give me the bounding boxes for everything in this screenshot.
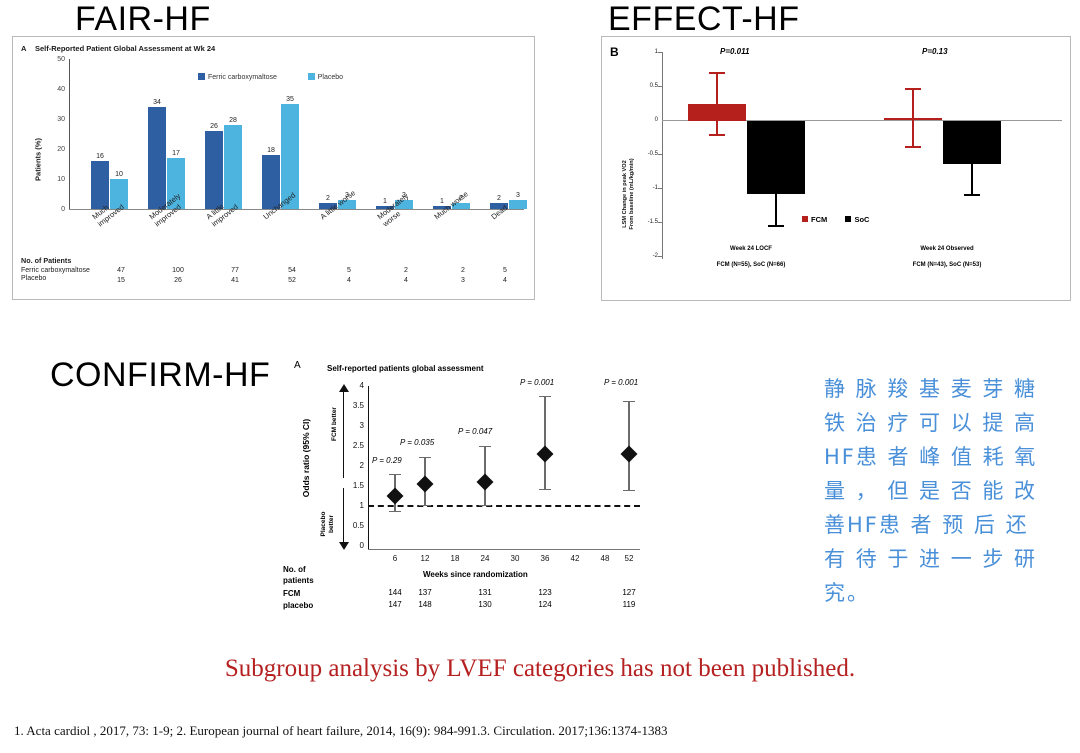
datapoint-week24 (477, 474, 494, 491)
chart-panel-effecthf: B LSM Change in peak VO2 From baseline (… (601, 36, 1071, 301)
page-title-confirmhf: CONFIRM-HF (50, 358, 270, 392)
confirmhf-pvalue-week12: P = 0.035 (400, 438, 434, 447)
chart-panel-confirmhf: A Self-reported patients global assessme… (288, 358, 650, 616)
errorbar-cap-top-week52 (623, 401, 635, 402)
bar-soc-observed (943, 121, 1001, 164)
conclusion-line-2: 铁 治 疗 可 以 提 高 (824, 406, 1072, 440)
confirmhf-ytick-15: 1.5 (344, 481, 364, 490)
fairhf-ytick-10: 10 (51, 176, 65, 183)
confirmhf-count-fcm-week52: 127 (614, 588, 644, 597)
conclusion-line-7: 究。 (824, 576, 1072, 610)
confirmhf-xtick-24: 24 (473, 554, 497, 563)
bar-soc-locf (747, 121, 805, 194)
count-placebo-4: 4 (334, 277, 364, 284)
confirmhf-y-axis-line (368, 386, 369, 549)
fairhf-x-axis-line (69, 209, 524, 210)
bar-value-placebo-unchanged: 35 (278, 96, 302, 103)
bar-value-fcm-much-improved: 16 (88, 153, 112, 160)
confirmhf-count-placebo-week52: 119 (614, 600, 644, 609)
errorbar-cap-top-week36 (539, 396, 551, 397)
effecthf-pvalue-locf: P=0.011 (720, 47, 749, 56)
confirmhf-ytick-3: 3 (348, 421, 364, 430)
count-placebo-1: 26 (163, 277, 193, 284)
legend-swatch-soc-effecthf (845, 216, 851, 222)
effecthf-pvalue-observed: P=0.13 (922, 47, 948, 56)
effecthf-group-label-observed: Week 24 Observed FCM (N=43), SoC (N=53) (882, 237, 1012, 269)
errorbar-cap-top-fcm-locf (709, 72, 725, 74)
count-fcm-6: 2 (448, 267, 478, 274)
fairhf-footer-row-placebo: Placebo (21, 275, 90, 282)
fairhf-footer-row-fcm: Ferric carboxymaltose (21, 267, 90, 274)
count-fcm-5: 2 (391, 267, 421, 274)
fairhf-panel-letter: A (21, 44, 26, 53)
effecthf-ytickmark-05 (658, 86, 662, 87)
fairhf-panel-title: Self-Reported Patient Global Assessment … (35, 44, 215, 53)
confirmhf-ytick-35: 3.5 (344, 401, 364, 410)
confirmhf-pvalue-week52: P = 0.001 (604, 378, 638, 387)
count-placebo-6: 3 (448, 277, 478, 284)
legend-label-fcm-effecthf: FCM (811, 215, 827, 224)
datapoint-week12 (417, 476, 434, 493)
confirmhf-arrow-down (343, 488, 344, 544)
effecthf-y-axis-title: LSM Change in peak VO2 From baseline (mL… (622, 149, 636, 239)
confirmhf-count-placebo-week24: 130 (470, 600, 500, 609)
effecthf-group-label-locf: Week 24 LOCF FCM (N=55), SoC (N=66) (686, 237, 816, 269)
count-fcm-0: 47 (106, 267, 136, 274)
errorbar-cap-bottom-week36 (539, 489, 551, 490)
errorbar-cap-bottom-fcm-locf (709, 134, 725, 136)
confirmhf-ytick-05: 0.5 (344, 521, 364, 530)
fairhf-ytick-50: 50 (51, 56, 65, 63)
conclusion-line-1: 静 脉 羧 基 麦 芽 糖 (824, 372, 1072, 406)
red-statement: Subgroup analysis by LVEF categories has… (0, 655, 1080, 683)
count-fcm-1: 100 (163, 267, 193, 274)
confirmhf-reference-line (368, 505, 640, 507)
errorbar-soc-locf (775, 194, 777, 227)
page-title-fairhf: FAIR-HF (75, 2, 211, 36)
count-placebo-2: 41 (220, 277, 250, 284)
confirmhf-panel-letter: A (294, 360, 301, 371)
effecthf-panel-letter: B (610, 45, 619, 59)
chart-panel-fairhf: A Self-Reported Patient Global Assessmen… (12, 36, 535, 300)
effecthf-group-sub-locf: FCM (N=55), SoC (N=66) (717, 262, 786, 268)
errorbar-cap-bottom-week24 (479, 505, 491, 506)
count-placebo-0: 15 (106, 277, 136, 284)
confirmhf-pvalue-week36: P = 0.001 (520, 378, 554, 387)
count-fcm-2: 77 (220, 267, 250, 274)
datapoint-week36 (537, 446, 554, 463)
count-fcm-7: 5 (490, 267, 520, 274)
confirmhf-xtick-52: 52 (617, 554, 641, 563)
effecthf-ytick-m2: -2 (640, 253, 658, 259)
confirmhf-ytick-0: 0 (348, 541, 364, 550)
count-placebo-7: 4 (490, 277, 520, 284)
page-title-effecthf: EFFECT-HF (608, 2, 799, 36)
datapoint-week52 (621, 446, 638, 463)
confirmhf-count-fcm-week24: 131 (470, 588, 500, 597)
errorbar-fcm-locf (716, 72, 718, 136)
confirmhf-footer-row-placebo: placebo (283, 600, 313, 611)
errorbar-cap-bottom-week6 (389, 511, 401, 512)
confirmhf-direction-placebo-better: Placebo better (320, 489, 336, 559)
references-text: 1. Acta cardiol , 2017, 73: 1-9; 2. Euro… (14, 723, 667, 738)
confirmhf-ytick-1: 1 (348, 501, 364, 510)
confirmhf-count-fcm-week36: 123 (530, 588, 560, 597)
legend-swatch-fcm-effecthf (802, 216, 808, 222)
confirmhf-xtick-18: 18 (443, 554, 467, 563)
references: 1. Acta cardiol , 2017, 73: 1-9; 2. Euro… (14, 722, 1074, 740)
confirmhf-ytick-4: 4 (348, 381, 364, 390)
conclusion-line-4: 量 ， 但 是 否 能 改 (824, 474, 1072, 508)
effecthf-ytick-1: 1 (642, 49, 658, 55)
effecthf-ytick-0: 0 (642, 117, 658, 123)
count-fcm-3: 54 (277, 267, 307, 274)
confirmhf-xtick-12: 12 (413, 554, 437, 563)
effecthf-ytick-m05: -0.5 (636, 151, 658, 157)
confirmhf-count-placebo-week36: 124 (530, 600, 560, 609)
conclusion-line-3: HF患 者 峰 值 耗 氧 (824, 440, 1072, 474)
confirmhf-xtick-36: 36 (533, 554, 557, 563)
effecthf-group-sub-observed: FCM (N=43), SoC (N=53) (913, 262, 982, 268)
confirmhf-panel-title: Self-reported patients global assessment (327, 364, 484, 373)
bar-value-fcm-moderately-improved: 34 (145, 99, 169, 106)
confirmhf-footer-header-text: No. of patients (283, 565, 314, 585)
errorbar-cap-bottom-week12 (419, 505, 431, 506)
effecthf-group-name-observed: Week 24 Observed (920, 246, 973, 252)
errorbar-cap-bottom-fcm-observed (905, 146, 921, 148)
effecthf-ytickmark-1 (658, 52, 662, 53)
errorbar-cap-bottom-soc-locf (768, 225, 784, 227)
conclusion-chinese-block: 静 脉 羧 基 麦 芽 糖 铁 治 疗 可 以 提 高 HF患 者 峰 值 耗 … (824, 372, 1072, 610)
bar-value-fcm-unchanged: 18 (259, 147, 283, 154)
conclusion-line-5: 善HF患 者 预 后 还 (824, 508, 1072, 542)
confirmhf-count-fcm-week12: 137 (410, 588, 440, 597)
confirmhf-xtick-42: 42 (563, 554, 587, 563)
errorbar-cap-top-week12 (419, 457, 431, 458)
confirmhf-ytick-25: 2.5 (344, 441, 364, 450)
effecthf-y-axis-line (662, 52, 663, 259)
fairhf-ytick-0: 0 (51, 206, 65, 213)
confirmhf-count-placebo-week12: 148 (410, 600, 440, 609)
effecthf-ytickmark-m15 (658, 222, 662, 223)
errorbar-week36 (544, 396, 546, 490)
fairhf-footer-header: No. of Patients (21, 256, 90, 265)
bar-value-fcm-a-little-improved: 26 (202, 123, 226, 130)
errorbar-cap-top-week24 (479, 446, 491, 447)
errorbar-cap-bottom-week52 (623, 490, 635, 491)
legend-label-soc-effecthf: SoC (854, 215, 869, 224)
count-placebo-3: 52 (277, 277, 307, 284)
fairhf-y-axis-title: Patients (%) (34, 130, 43, 190)
confirmhf-count-placebo-week6: 147 (380, 600, 410, 609)
confirmhf-count-fcm-week6: 144 (380, 588, 410, 597)
conclusion-line-6: 有 待 于 进 一 步 研 (824, 542, 1072, 576)
confirmhf-footer-header: No. of patients (283, 564, 314, 586)
count-placebo-5: 4 (391, 277, 421, 284)
bar-fcm-moderately-improved (148, 107, 166, 209)
effecthf-ytick-m1: -1 (640, 185, 658, 191)
confirmhf-xtick-6: 6 (383, 554, 407, 563)
confirmhf-direction-fcm-better: FCM better (331, 394, 339, 454)
confirmhf-xtick-30: 30 (503, 554, 527, 563)
bar-fcm-a-little-improved (205, 131, 223, 209)
confirmhf-pvalue-week6: P = 0.29 (372, 456, 402, 465)
confirmhf-y-axis-title: Odds ratio (95% CI) (301, 408, 311, 508)
errorbar-cap-top-fcm-observed (905, 88, 921, 90)
red-statement-text: Subgroup analysis by LVEF categories has… (225, 655, 855, 682)
count-fcm-4: 5 (334, 267, 364, 274)
datapoint-week6 (387, 488, 404, 505)
errorbar-cap-top-week6 (389, 474, 401, 475)
confirmhf-x-axis-line (368, 549, 640, 550)
effecthf-ytickmark-m1 (658, 188, 662, 189)
bar-value-placebo-moderately-improved: 17 (164, 150, 188, 157)
effecthf-group-name-locf: Week 24 LOCF (730, 246, 772, 252)
errorbar-soc-observed (971, 164, 973, 196)
effecthf-ytickmark-m05 (658, 154, 662, 155)
errorbar-cap-bottom-soc-observed (964, 194, 980, 196)
fairhf-ytick-30: 30 (51, 116, 65, 123)
confirmhf-footer-row-fcm: FCM (283, 588, 300, 599)
confirmhf-x-axis-title: Weeks since randomization (423, 570, 528, 579)
confirmhf-ytick-2: 2 (348, 461, 364, 470)
fairhf-ytick-40: 40 (51, 86, 65, 93)
confirmhf-xtick-48: 48 (593, 554, 617, 563)
effecthf-ytick-05: 0.5 (638, 83, 658, 89)
effecthf-ytick-m15: -1.5 (636, 219, 658, 225)
effecthf-ytickmark-m2 (658, 256, 662, 257)
effecthf-legend: FCM SoC (802, 215, 869, 224)
fairhf-ytick-20: 20 (51, 146, 65, 153)
bar-value-placebo-a-little-improved: 28 (221, 117, 245, 124)
fairhf-footer: No. of Patients Ferric carboxymaltose Pl… (21, 256, 90, 282)
confirmhf-pvalue-week24: P = 0.047 (458, 427, 492, 436)
bar-value-placebo-much-improved: 10 (107, 171, 131, 178)
errorbar-fcm-observed (912, 88, 914, 148)
